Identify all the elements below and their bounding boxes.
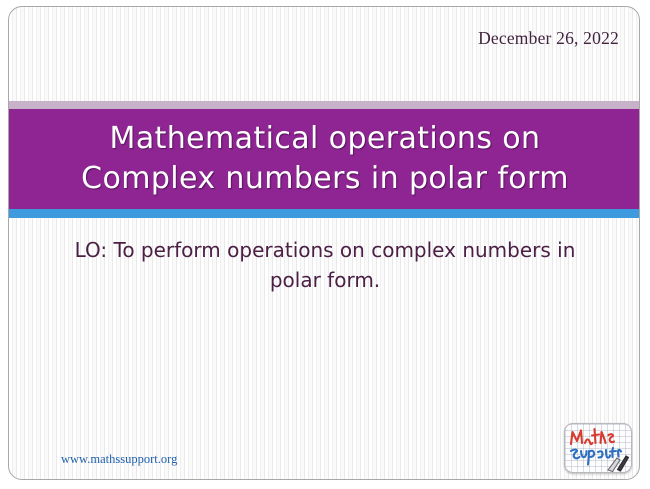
mathssupport-logo[interactable] (564, 423, 632, 473)
logo-pen-icon (608, 456, 629, 472)
site-url-link[interactable]: www.mathssupport.org (61, 452, 177, 467)
slide-title-line-2: Complex numbers in polar form (81, 159, 569, 199)
logo-artwork (565, 424, 631, 472)
slide-title-line-1: Mathematical operations on (110, 119, 541, 159)
slide-date: December 26, 2022 (478, 28, 619, 49)
banner-body: Mathematical operations on Complex numbe… (8, 109, 640, 209)
title-banner: Mathematical operations on Complex numbe… (8, 101, 640, 222)
learning-objective-text: LO: To perform operations on complex num… (69, 235, 581, 295)
banner-top-accent-strip (8, 101, 640, 109)
banner-bottom-accent-strip (8, 209, 640, 218)
slide-canvas: December 26, 2022 Mathematical operation… (8, 6, 640, 480)
logo-word-maths-icon (571, 429, 614, 444)
